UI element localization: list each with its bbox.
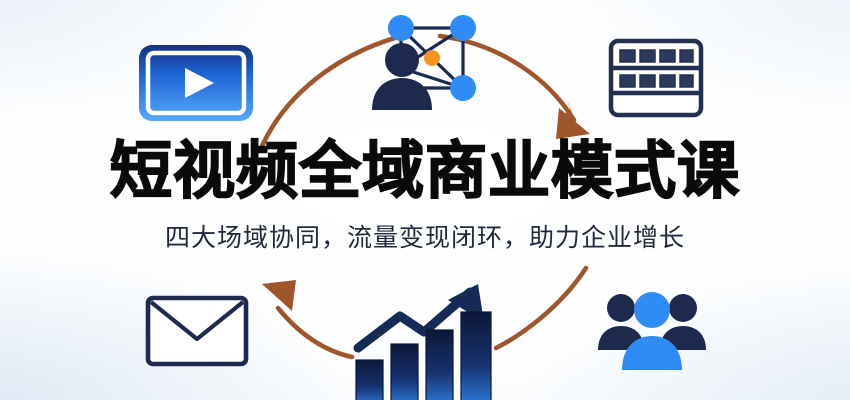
poster-canvas: 短视频全域商业模式课 四大场域协同，流量变现闭环，助力企业增长 [0, 0, 850, 400]
people-group-icon [596, 288, 708, 370]
growth-chart-icon [352, 282, 504, 400]
page-subtitle: 四大场域协同，流量变现闭环，助力企业增长 [0, 218, 850, 254]
page-title: 短视频全域商业模式课 [0, 140, 850, 202]
video-play-icon [138, 44, 254, 122]
shelf-store-icon [608, 38, 704, 118]
network-user-icon [368, 6, 484, 114]
mail-envelope-icon [145, 295, 249, 367]
text-block: 短视频全域商业模式课 四大场域协同，流量变现闭环，助力企业增长 [0, 140, 850, 254]
